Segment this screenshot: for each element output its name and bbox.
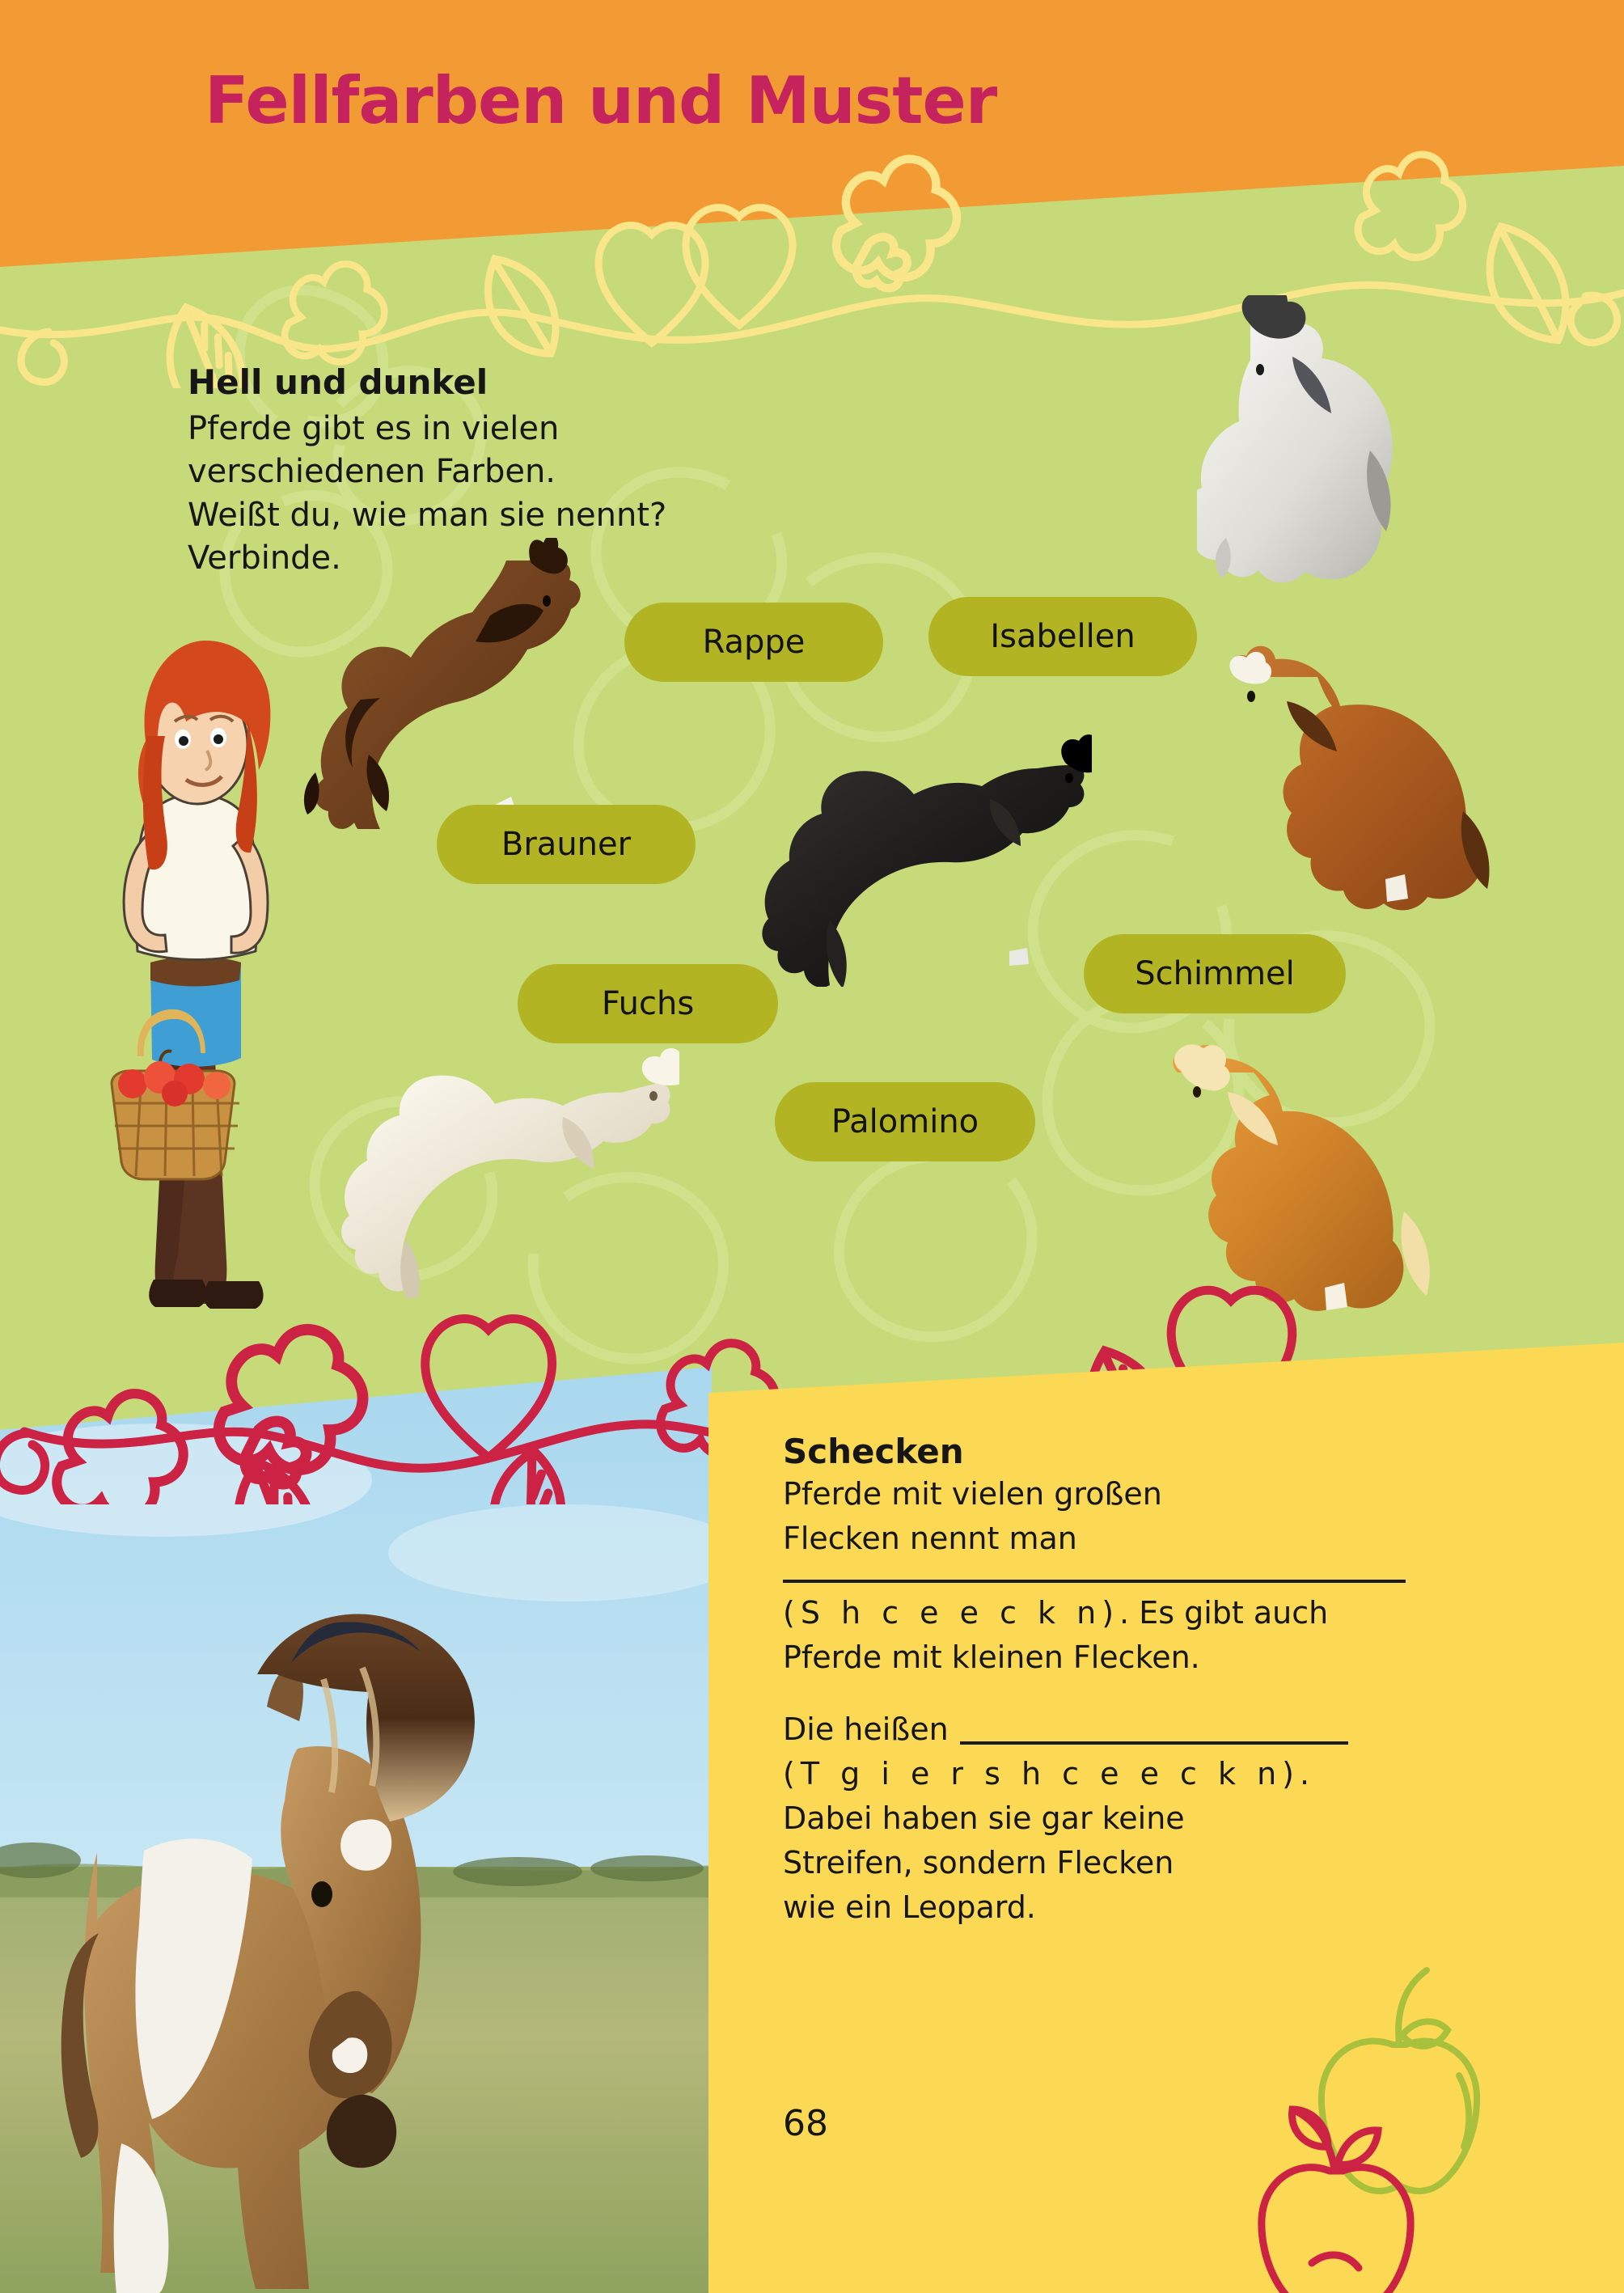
lesson-line-1: Pferde gibt es in vielen verschiedenen F… <box>188 408 802 494</box>
pill-fuchs[interactable]: Fuchs <box>518 964 778 1043</box>
answer-blank-1[interactable] <box>783 1580 1406 1583</box>
panel-line-5: Dabei haben sie gar keine <box>783 1796 1430 1841</box>
answer-blank-2[interactable] <box>960 1717 1348 1745</box>
panel-line-4-prefix: Die heißen <box>783 1711 949 1747</box>
workbook-page: Fellfarben und Muster Hell und dunkel Pf… <box>0 0 1624 2293</box>
black-horse-trotting-image <box>752 728 1092 987</box>
scramble-word-1: (S h c e e c k n) <box>783 1595 1119 1631</box>
panel-line-3: Pferde mit kleinen Flecken. <box>783 1635 1430 1680</box>
apple-outline-crimson-icon <box>1237 2087 1432 2293</box>
cream-pony-galloping-image <box>324 1031 679 1298</box>
pill-palomino[interactable]: Palomino <box>775 1082 1035 1161</box>
girl-with-apple-basket-illustration <box>63 582 330 1343</box>
panel-line-2: Flecken nennt man <box>783 1517 1430 1561</box>
panel-scramble-line-1: (S h c e e c k n). Es gibt auch <box>783 1591 1430 1635</box>
pinto-pony-photo <box>0 1367 712 2293</box>
panel-after-scramble-1: . Es gibt auch <box>1119 1595 1328 1631</box>
panel-heading: Schecken <box>783 1432 1430 1472</box>
panel-scramble-line-2: (T g i e r s h c e e c k n). <box>783 1752 1430 1796</box>
pill-isabellen[interactable]: Isabellen <box>928 597 1197 676</box>
panel-line-4: Die heißen <box>783 1707 1430 1752</box>
page-title: Fellfarben und Muster <box>205 63 996 138</box>
lesson-heading: Hell und dunkel <box>188 362 802 403</box>
lesson-line-2: Weißt du, wie man sie nennt? <box>188 494 802 538</box>
chestnut-horse-trotting-image <box>1193 643 1605 918</box>
bay-horse-rearing-image <box>291 538 615 829</box>
pill-rappe[interactable]: Rappe <box>624 603 883 682</box>
panel-line-1: Pferde mit vielen großen <box>783 1472 1430 1517</box>
page-number: 68 <box>783 2103 828 2144</box>
pill-schimmel[interactable]: Schimmel <box>1084 934 1346 1013</box>
panel-line-6: Streifen, sondern Flecken <box>783 1841 1430 1885</box>
pill-brauner[interactable]: Brauner <box>437 805 696 884</box>
grey-horse-galloping-image <box>1197 295 1472 603</box>
schecken-text-block: Schecken Pferde mit vielen großen Flecke… <box>783 1432 1430 1930</box>
panel-line-7: wie ein Leopard. <box>783 1885 1430 1930</box>
paragraph-spacer <box>783 1680 1430 1707</box>
